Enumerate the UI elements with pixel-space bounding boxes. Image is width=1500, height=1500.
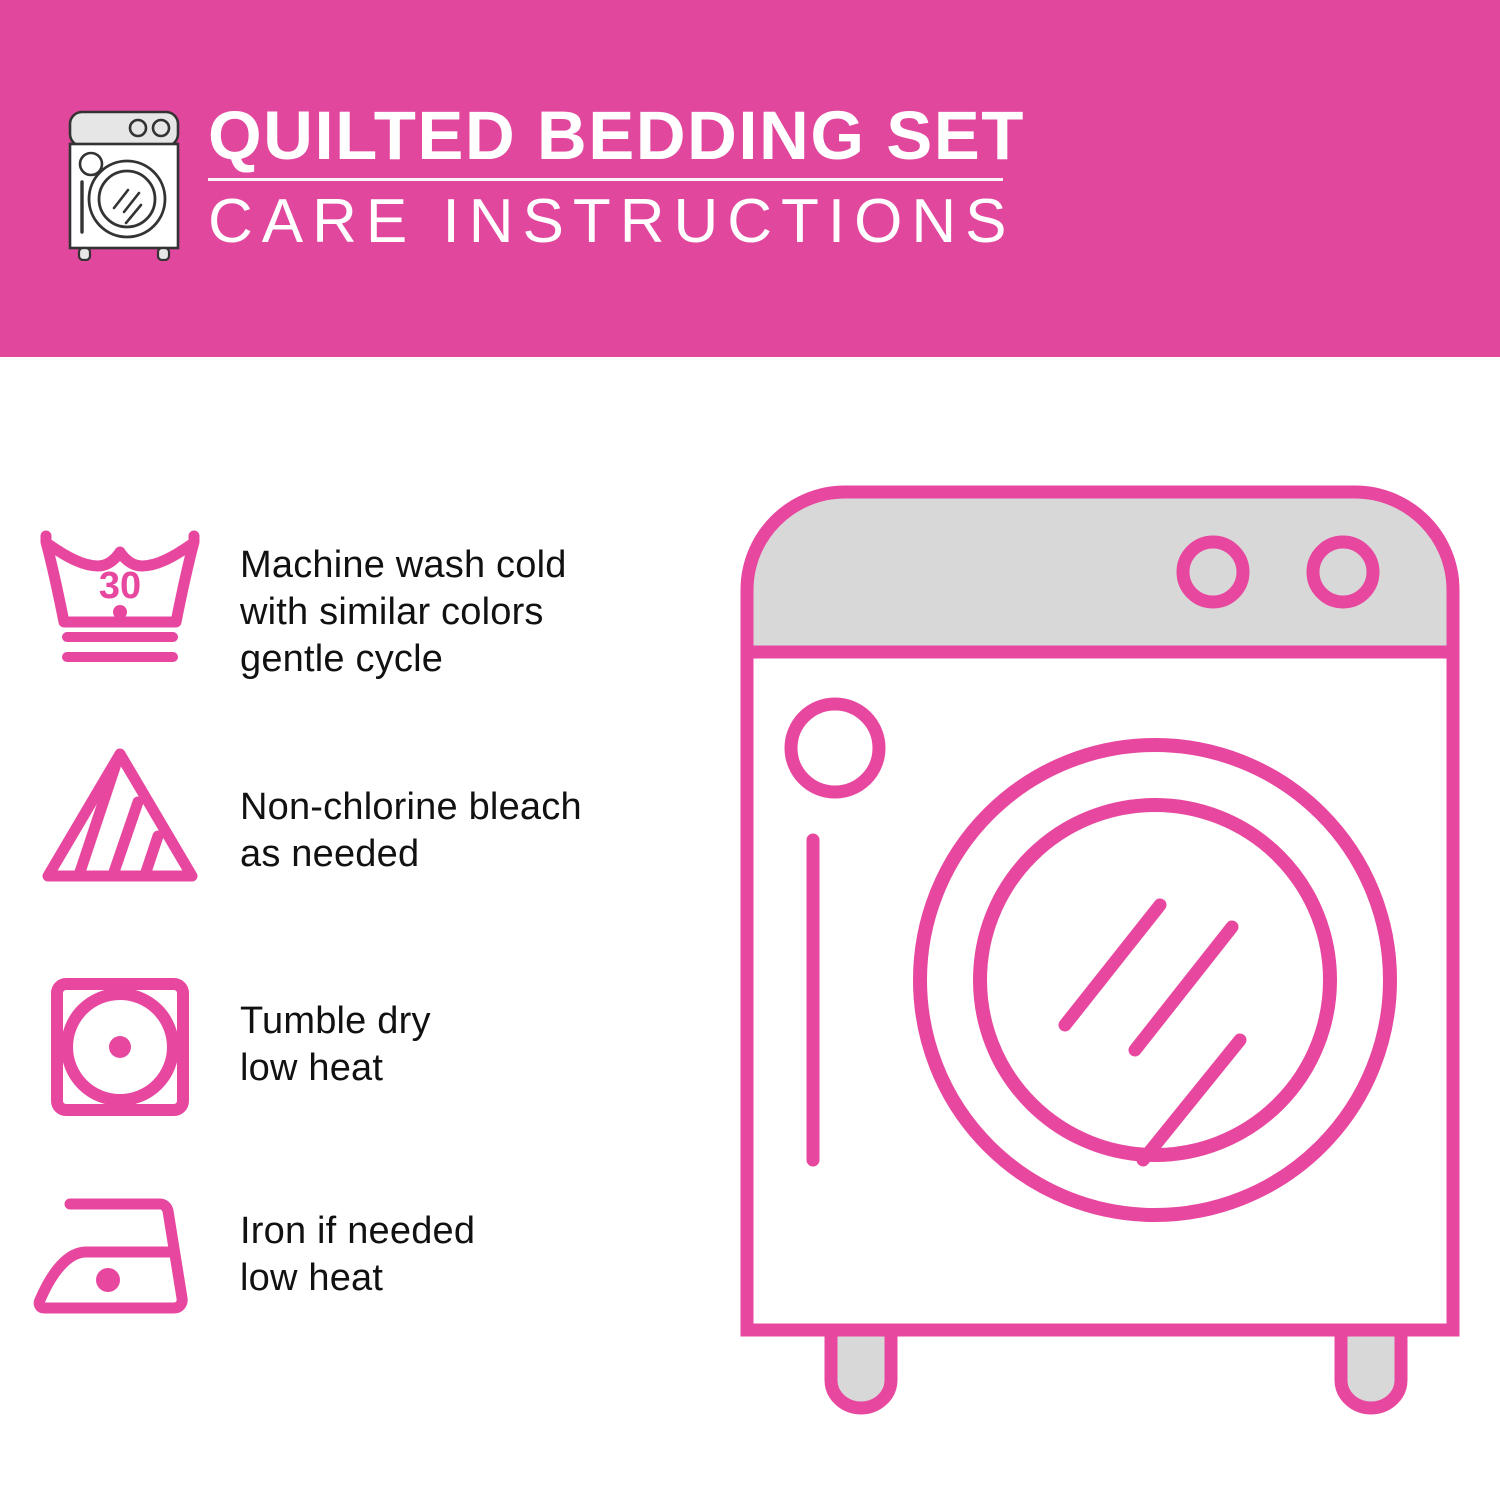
leg-left	[831, 1330, 891, 1408]
indicator-light	[791, 704, 879, 792]
header-banner: QUILTED BEDDING SET CARE INSTRUCTIONS	[0, 0, 1500, 357]
care-instructions-page: QUILTED BEDDING SET CARE INSTRUCTIONS 30…	[0, 0, 1500, 1500]
iron-low-heat-icon	[30, 1190, 210, 1322]
header-content: QUILTED BEDDING SET CARE INSTRUCTIONS	[62, 98, 1025, 261]
header-title-block: QUILTED BEDDING SET CARE INSTRUCTIONS	[208, 98, 1025, 257]
care-row-bleach: Non-chlorine bleach as needed	[0, 736, 720, 890]
care-icon-slot	[0, 968, 240, 1122]
tumble-dry-low-icon	[45, 972, 195, 1122]
care-row-tumble-dry: Tumble dry low heat	[0, 968, 720, 1122]
control-knob-right[interactable]	[1313, 542, 1373, 602]
care-row-iron: Iron if needed low heat	[0, 1186, 720, 1322]
care-icon-slot: 30	[0, 518, 240, 670]
door-inner-ring	[980, 805, 1330, 1155]
care-label-bleach: Non-chlorine bleach as needed	[240, 736, 720, 878]
care-row-machine-wash: 30 Machine wash cold with similar colors…	[0, 518, 720, 683]
care-label-iron: Iron if needed low heat	[240, 1186, 720, 1302]
care-label-tumble-dry: Tumble dry low heat	[240, 968, 720, 1092]
leg-right	[1341, 1330, 1401, 1408]
title-divider	[208, 178, 1003, 181]
bleach-triangle-icon	[34, 740, 206, 890]
wash-temperature-value: 30	[99, 565, 141, 607]
care-icon-slot	[0, 736, 240, 890]
wash-tub-30-icon: 30	[30, 522, 210, 670]
page-subtitle: CARE INSTRUCTIONS	[208, 187, 1025, 257]
page-title: QUILTED BEDDING SET	[208, 98, 1025, 174]
washing-machine-illustration	[735, 480, 1465, 1420]
control-knob-left[interactable]	[1183, 542, 1243, 602]
washing-machine-icon	[62, 106, 186, 261]
care-icon-slot	[0, 1186, 240, 1322]
care-label-machine-wash: Machine wash cold with similar colors ge…	[240, 518, 720, 683]
